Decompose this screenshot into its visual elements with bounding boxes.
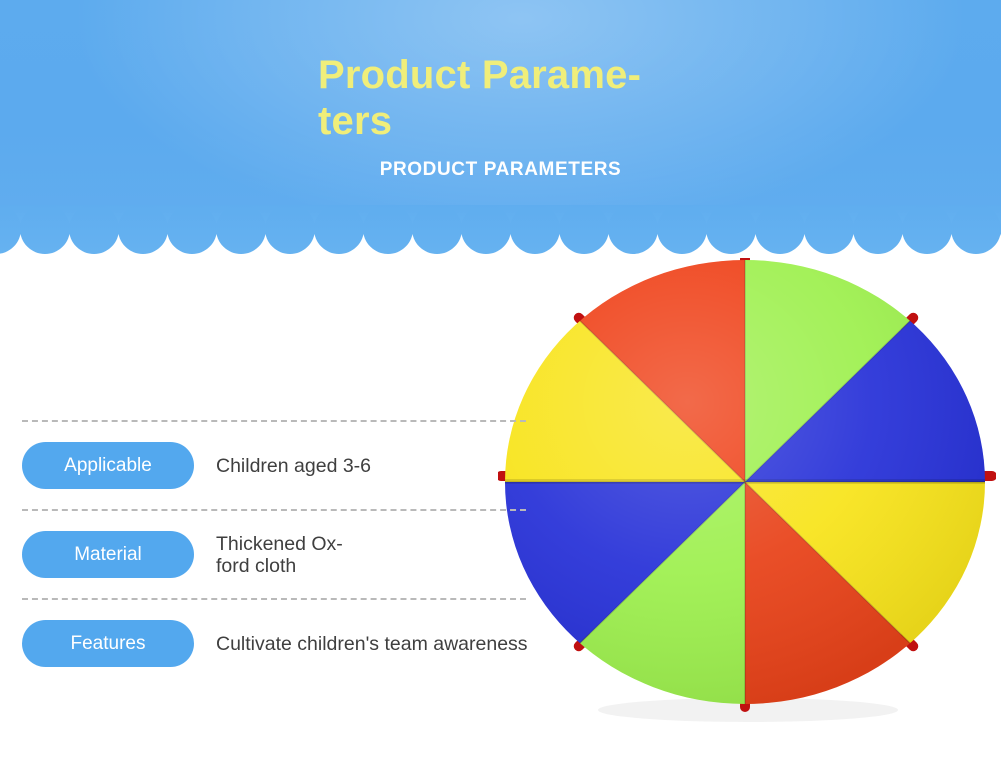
parameter-value-material: Thickened Ox- ford cloth: [216, 533, 343, 577]
product-image-rainbow-parachute: [498, 258, 996, 758]
scallop-wave-divider: [0, 205, 1001, 261]
parameter-label-features: Features: [22, 620, 194, 667]
parameter-label-applicable: Applicable: [22, 442, 194, 489]
parameter-value-features: Cultivate children's team awareness: [216, 633, 528, 655]
page-title: Product Parame- ters: [318, 52, 678, 144]
parameter-label-material: Material: [22, 531, 194, 578]
parachute-canopy: [498, 258, 996, 718]
table-row: Features Cultivate children's team aware…: [22, 600, 542, 687]
parameter-value-applicable: Children aged 3-6: [216, 455, 371, 477]
product-parameters-table: Applicable Children aged 3-6 Material Th…: [22, 420, 542, 687]
page-header-banner: Product Parame- ters PRODUCT PARAMETERS: [0, 0, 1001, 229]
page-subtitle: PRODUCT PARAMETERS: [0, 159, 1001, 181]
table-row: Applicable Children aged 3-6: [22, 422, 542, 509]
table-row: Material Thickened Ox- ford cloth: [22, 511, 542, 598]
